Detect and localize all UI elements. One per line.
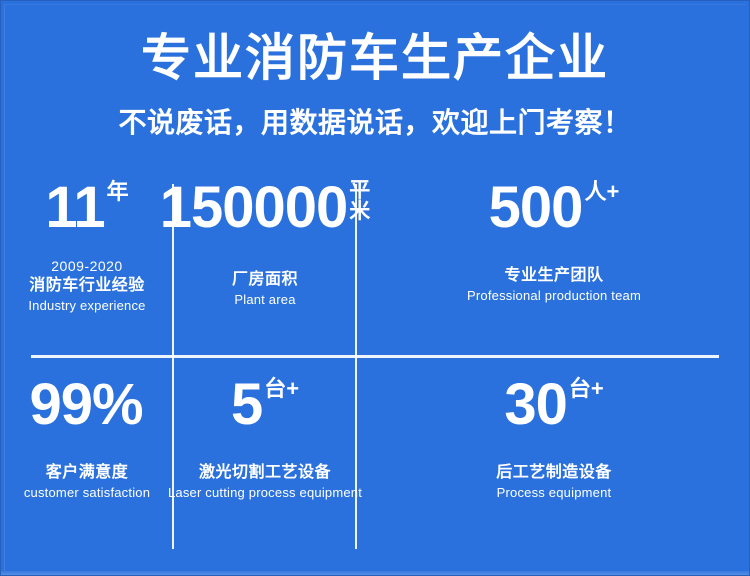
stat-unit: 年: [107, 181, 129, 203]
stat-unit: 台+: [264, 378, 299, 400]
stat-unit: 人+: [584, 181, 619, 203]
stat-label-cn: 后工艺制造设备: [496, 462, 612, 484]
stat-label-en: Laser cutting process equipment: [168, 484, 362, 502]
stats-grid: 11 年 2009-2020 消防车行业经验 Industry experien…: [1, 179, 750, 553]
stat-label-cn: 厂房面积: [232, 269, 298, 291]
stat-card-industry-experience: 11 年 2009-2020 消防车行业经验 Industry experien…: [1, 179, 173, 356]
stat-labels: 激光切割工艺设备 Laser cutting process equipment: [168, 462, 362, 502]
stat-labels: 厂房面积 Plant area: [232, 269, 298, 309]
stat-label-cn: 客户满意度: [24, 462, 150, 484]
grid-divider-vertical-right: [355, 184, 357, 549]
stat-label-en: customer satisfaction: [24, 484, 150, 502]
grid-divider-vertical-left: [172, 184, 174, 549]
stat-label-en: Professional production team: [467, 287, 641, 305]
stats-row: 99% 客户满意度 customer satisfaction 5 台+ 激光切…: [1, 376, 750, 553]
stat-number: 500: [489, 179, 583, 237]
stat-label-en: Plant area: [232, 291, 298, 309]
stat-card-plant-area: 150000 平 米 厂房面积 Plant area: [173, 179, 357, 356]
banner-header: 专业消防车生产企业 不说废话，用数据说话，欢迎上门考察！: [1, 27, 749, 143]
stat-labels: 后工艺制造设备 Process equipment: [496, 462, 612, 502]
stat-label-en: Industry experience: [28, 297, 145, 315]
stat-labels: 客户满意度 customer satisfaction: [24, 462, 150, 502]
stat-labels: 专业生产团队 Professional production team: [467, 265, 641, 305]
stat-number: 30: [504, 376, 567, 434]
stat-number: 5: [231, 376, 262, 434]
stat-number: 99%: [29, 376, 142, 434]
stat-label-cn: 专业生产团队: [467, 265, 641, 287]
stat-number-line: 11 年: [45, 179, 128, 243]
grid-divider-horizontal: [31, 355, 719, 358]
promo-banner: 专业消防车生产企业 不说废话，用数据说话，欢迎上门考察！ 11 年 2009-2…: [0, 0, 750, 576]
stat-card-production-team: 500 人+ 专业生产团队 Professional production te…: [357, 179, 750, 356]
stat-label-en: Process equipment: [496, 484, 612, 502]
stat-labels: 2009-2020 消防车行业经验 Industry experience: [28, 251, 145, 315]
stats-row: 11 年 2009-2020 消防车行业经验 Industry experien…: [1, 179, 750, 356]
stat-label-cn: 激光切割工艺设备: [168, 462, 362, 484]
stat-unit: 台+: [569, 378, 604, 400]
bottom-edge-highlight: [1, 571, 749, 575]
stat-number-line: 500 人+: [489, 179, 620, 243]
stat-card-process-equipment: 30 台+ 后工艺制造设备 Process equipment: [357, 376, 750, 553]
stat-number-line: 99%: [29, 376, 144, 440]
stat-number-line: 150000 平 米: [160, 179, 371, 243]
stat-number-line: 5 台+: [231, 376, 299, 440]
stat-label-cn: 消防车行业经验: [28, 275, 145, 297]
stat-card-laser-cutting: 5 台+ 激光切割工艺设备 Laser cutting process equi…: [173, 376, 357, 553]
stat-year-range: 2009-2020: [28, 257, 145, 275]
headline: 专业消防车生产企业: [1, 27, 749, 89]
stat-number: 11: [45, 179, 104, 237]
stat-number: 150000: [160, 179, 348, 237]
subheadline: 不说废话，用数据说话，欢迎上门考察！: [1, 103, 749, 143]
stat-number-line: 30 台+: [504, 376, 603, 440]
stat-card-customer-satisfaction: 99% 客户满意度 customer satisfaction: [1, 376, 173, 553]
